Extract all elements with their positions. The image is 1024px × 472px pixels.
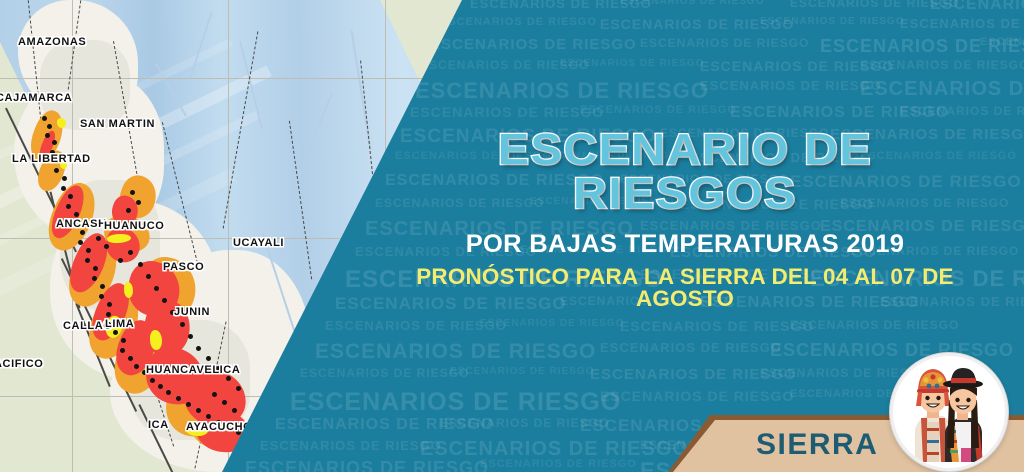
affected-locality-point (52, 140, 57, 145)
watermark-text: ESCENARIOS DE RIESGO (410, 104, 604, 120)
watermark-text: ESCENARIOS DE RIESGO (700, 58, 894, 74)
graticule-line (0, 78, 470, 79)
watermark-text: ESCENARIOS DE RIESGO (730, 104, 949, 122)
region-label: SIERRA (756, 428, 878, 462)
watermark-text: ESCENARIOS DE RIESGO (900, 104, 1024, 118)
affected-locality-point (136, 200, 141, 205)
map-label-ancash: ANCASH (56, 218, 107, 230)
watermark-text: ESCENARIOS DE RIESGO (860, 58, 1024, 72)
watermark-text: ESCENARIOS DE RIESGO (790, 318, 959, 332)
affected-locality-point (80, 230, 85, 235)
affected-locality-point (104, 244, 109, 249)
affected-locality-point (107, 302, 112, 307)
watermark-text: ESCENARIOS DE RIESGO (900, 16, 1024, 31)
watermark-text: ESCENARIOS DE RIESGO (480, 318, 624, 329)
watermark-text: ESCENARIOS DE RIESGO (290, 388, 621, 417)
affected-locality-point (212, 392, 217, 397)
affected-locality-point (66, 204, 71, 209)
affected-locality-point (106, 312, 111, 317)
watermark-text: ESCENARIOS DE RIESGO (325, 318, 507, 333)
watermark-text: ESCENARIOS DE RIESGO (440, 416, 609, 430)
affected-locality-point (128, 250, 133, 255)
map-label-acifico: ACIFICO (0, 358, 43, 370)
watermark-text: ESCENARIOS DE RIESGO (820, 36, 1024, 57)
watermark-text: ESCENARIOS DE RIESGO (420, 438, 689, 461)
watermark-text: ESCENARIOS DE RIESGO (760, 16, 904, 27)
watermark-text: ESCENARIOS DE RIESGO (450, 366, 594, 377)
watermark-text: ESCENARIOS DE RIESGO (420, 58, 589, 72)
map-label-pasco: PASCO (163, 261, 204, 273)
affected-locality-point (45, 133, 50, 138)
andean-children-avatar (890, 353, 1008, 471)
affected-locality-point (78, 240, 83, 245)
affected-locality-point (196, 408, 201, 413)
affected-locality-point (222, 400, 227, 405)
hazard-zone-moderate (57, 118, 66, 128)
map-label-la-libertad: LA LIBERTAD (12, 153, 91, 165)
watermark-text: ESCENARIOS DE RIESGO (590, 366, 797, 383)
watermark-text: ESCENARIOS DE RIESGO (470, 0, 652, 11)
watermark-text: ESCENARIOS DE RIESGO (600, 388, 794, 404)
watermark-text: ESCENARIOS DE RIESGO (620, 0, 764, 7)
watermark-text: ESCENARIOS DE RIESGO (415, 78, 709, 104)
watermark-text: ESCENARIOS DE RIESGO (600, 340, 782, 355)
map-label-ica: ICA (148, 419, 169, 431)
affected-locality-point (186, 402, 191, 407)
watermark-text: ESCENARIOS DE RIESGO (600, 16, 794, 32)
watermark-text: ESCENARIOS DE RIESGO (315, 340, 596, 364)
watermark-text: ESCENARIOS DE RIESGO (245, 458, 489, 472)
watermark-text: ESCENARIOS DE RIESGO (440, 16, 597, 28)
affected-locality-point (126, 208, 131, 213)
affected-locality-point (130, 190, 135, 195)
affected-locality-point (158, 384, 163, 389)
watermark-text: ESCENARIOS DE RIESGO (430, 36, 637, 53)
map-label-ucayali: UCAYALI (233, 237, 284, 249)
affected-locality-point (42, 116, 47, 121)
watermark-text: ESCENARIOS DE RIESGO (560, 58, 704, 69)
watermark-text: ESCENARIOS DE RIESGO (930, 0, 1024, 14)
affected-locality-point (93, 266, 98, 271)
watermark-text: ESCENARIOS DE RIESGO (620, 318, 814, 334)
affected-locality-point (236, 386, 241, 391)
affected-locality-point (100, 284, 105, 289)
affected-locality-point (74, 212, 79, 217)
affected-locality-point (134, 364, 139, 369)
affected-locality-point (128, 356, 133, 361)
watermark-text: ESCENARIOS DE RIESGO (790, 0, 959, 10)
map-label-cajamarca: CAJAMARCA (0, 92, 72, 104)
watermark-text: ESCENARIOS DE RIESGO (770, 340, 1014, 361)
map-label-huancavelica: HUANCAVELICA (146, 364, 240, 376)
subtitle-secondary: PRONÓSTICO PARA LA SIERRA DEL 04 AL 07 D… (394, 266, 975, 310)
map-label-ayacucho: AYACUCHO (186, 421, 252, 433)
watermark-text: ESCENARIOS DE RIESGO (580, 104, 737, 116)
page-title: ESCENARIO DE RIESGOS (383, 128, 987, 216)
affected-locality-point (85, 258, 90, 263)
affected-locality-point (99, 294, 104, 299)
risk-scenario-banner: AMAZONASCAJAMARCASAN MARTINLA LIBERTADAN… (0, 0, 1024, 472)
affected-locality-point (138, 262, 143, 267)
affected-locality-point (120, 348, 125, 353)
watermark-text: ESCENARIOS DE RIESGO (260, 438, 442, 453)
watermark-text: ESCENARIOS DE RIESGO (480, 458, 637, 470)
affected-locality-point (166, 390, 171, 395)
affected-locality-point (47, 124, 52, 129)
andean-children-illustration (893, 356, 999, 462)
watermark-text: ESCENARIOS DE RIESGO (700, 78, 882, 93)
affected-locality-point (196, 346, 201, 351)
map-label-amazonas: AMAZONAS (18, 36, 86, 48)
affected-locality-point (96, 236, 101, 241)
watermark-text: ESCENARIOS DE RIESGO (860, 78, 1024, 101)
affected-locality-point (68, 194, 73, 199)
map-label-lima: LIMA (105, 318, 134, 330)
affected-locality-point (62, 176, 67, 181)
affected-locality-point (86, 248, 91, 253)
hazard-zone-moderate (124, 282, 133, 298)
affected-locality-point (232, 408, 237, 413)
affected-locality-point (180, 322, 185, 327)
map-label-huanuco: HUANUCO (104, 220, 164, 232)
affected-locality-point (54, 168, 59, 173)
watermark-text: ESCENARIOS DE RIESGO (980, 36, 1024, 48)
girl-figure (943, 368, 983, 462)
watermark-text: ESCENARIOS DE RIESGO (300, 366, 469, 380)
affected-locality-point (162, 298, 167, 303)
affected-locality-point (113, 330, 118, 335)
title-block: ESCENARIO DE RIESGOS POR BAJAS TEMPERATU… (400, 128, 970, 310)
subtitle-primary: POR BAJAS TEMPERATURAS 2019 (394, 232, 975, 257)
affected-locality-point (61, 186, 66, 191)
watermark-text: ESCENARIOS DE RIESGO (275, 416, 494, 434)
affected-locality-point (226, 376, 231, 381)
affected-locality-point (146, 274, 151, 279)
map-label-san-martin: SAN MARTIN (80, 118, 155, 130)
watermark-text: ESCENARIOS DE RIESGO (640, 36, 809, 50)
affected-locality-point (118, 258, 123, 263)
affected-locality-point (188, 334, 193, 339)
affected-locality-point (92, 276, 97, 281)
affected-locality-point (176, 396, 181, 401)
affected-locality-point (206, 356, 211, 361)
affected-locality-point (150, 378, 155, 383)
map-label-junin: JUNIN (174, 306, 210, 318)
affected-locality-point (154, 286, 159, 291)
affected-locality-point (121, 338, 126, 343)
affected-locality-point (206, 414, 211, 419)
hazard-zone-moderate (150, 330, 162, 350)
